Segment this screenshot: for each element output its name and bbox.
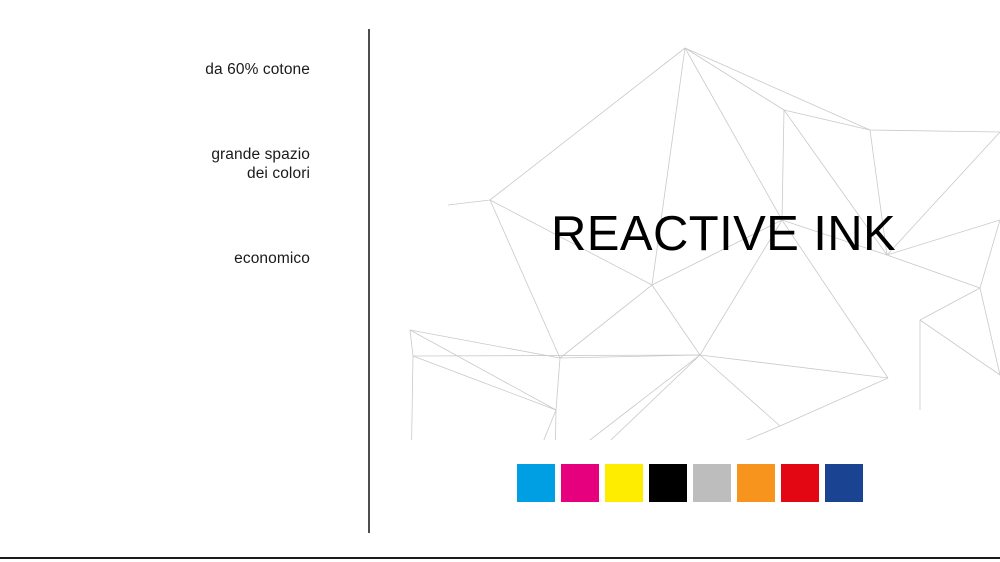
mesh-edge: [652, 285, 700, 355]
mesh-edge: [980, 220, 1000, 288]
mesh-edge: [782, 110, 784, 220]
mesh-edge: [410, 330, 560, 358]
mesh-edge: [784, 110, 870, 130]
mesh-edge: [920, 320, 1000, 375]
mesh-edge: [555, 410, 556, 440]
mesh-edge: [700, 355, 780, 426]
swatch-magenta: [561, 464, 599, 502]
mesh-edge: [502, 410, 556, 440]
presentation-slide: da 60% cotone grande spazio dei colori e…: [0, 0, 1000, 562]
swatch-cyan: [517, 464, 555, 502]
mesh-edge: [556, 358, 560, 410]
swatch-yellow: [605, 464, 643, 502]
feature-item-cotton: da 60% cotone: [30, 60, 310, 79]
mesh-edge: [920, 288, 980, 320]
swatch-black: [649, 464, 687, 502]
mesh-edge: [410, 330, 556, 410]
feature-list: da 60% cotone grande spazio dei colori e…: [30, 60, 310, 268]
mesh-edge: [780, 378, 888, 426]
mesh-edge: [490, 200, 560, 358]
mesh-edge: [490, 48, 685, 200]
mesh-edge: [560, 285, 652, 358]
mesh-edge: [870, 130, 1000, 132]
feature-item-color-space: grande spazio dei colori: [30, 145, 310, 183]
mesh-edge: [980, 288, 1000, 375]
mesh-edge: [413, 356, 556, 410]
bottom-rule: [0, 557, 1000, 559]
mesh-edge: [555, 355, 700, 440]
swatch-orange: [737, 464, 775, 502]
mesh-edge: [887, 220, 1000, 255]
mesh-edge: [448, 200, 490, 205]
mesh-edge: [502, 355, 700, 440]
swatch-red: [781, 464, 819, 502]
mesh-edge: [887, 132, 1000, 255]
mesh-edge: [410, 356, 413, 440]
mesh-edge: [887, 255, 980, 288]
page-title: REACTIVE INK: [551, 208, 896, 260]
mesh-edge: [685, 48, 782, 220]
swatch-grey: [693, 464, 731, 502]
feature-item-economical: economico: [30, 249, 310, 268]
mesh-edge: [410, 330, 413, 356]
mesh-edge: [685, 48, 870, 130]
mesh-edge: [502, 426, 780, 440]
mesh-edge: [685, 48, 784, 110]
color-swatch-row: [517, 464, 863, 502]
swatch-blue: [825, 464, 863, 502]
vertical-divider: [368, 29, 370, 533]
mesh-edge: [700, 355, 888, 378]
